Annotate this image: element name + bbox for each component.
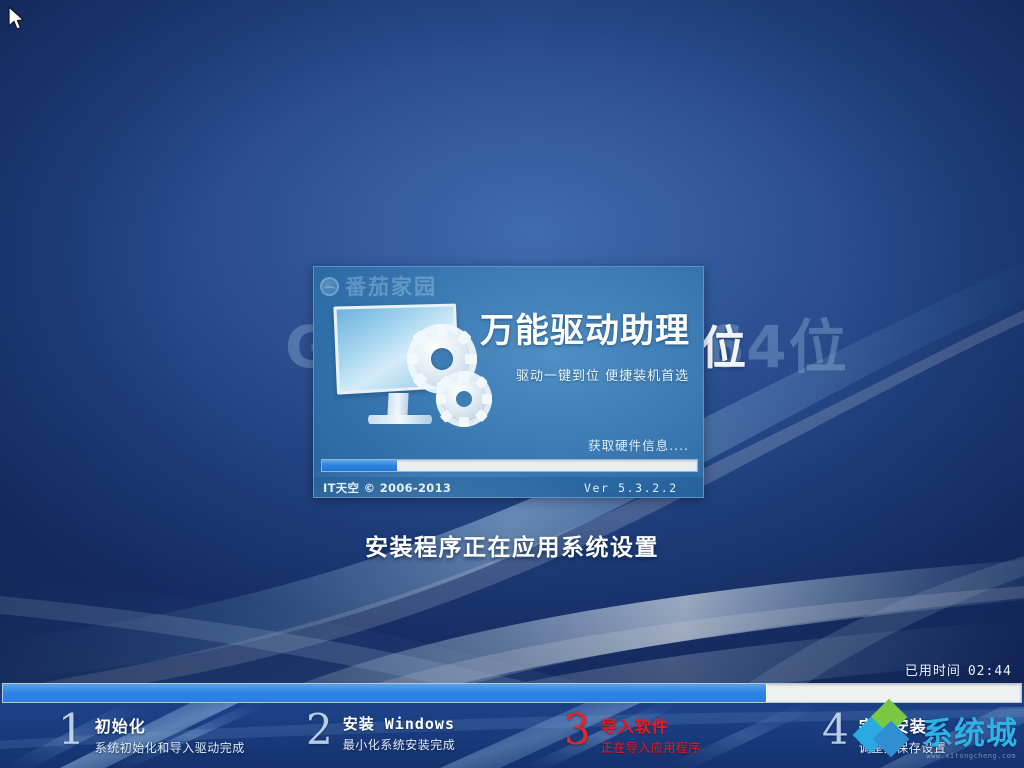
splash-progress-fill [322,460,397,471]
splash-version: Ver 5.3.2.2 [584,481,678,495]
installer-progress-fill [3,684,767,702]
gear-small-icon [442,377,486,421]
splash-product-title: 万能驱动助理 [480,303,690,352]
step-item-2: 2 安装 Windows 最小化系统安装完成 [256,703,512,768]
splash-watermark-text: 番茄家园 [345,271,437,301]
splash-progress-bar [321,459,698,472]
splash-tagline: 驱动一键到位 便捷装机首选 [516,365,689,384]
step-title: 安装 Windows [343,713,456,734]
installer-progress-bar [2,683,1022,703]
step-number: 4 [822,709,849,751]
elapsed-time-value: 02:44 [968,664,1012,679]
installer-status-message: 安装程序正在应用系统设置 [0,528,1024,562]
elapsed-time-label: 已用时间 [905,660,961,679]
step-title: 完成安装 [859,713,947,737]
installer-taskbar: 1 初始化 系统初始化和导入驱动完成 2 安装 Windows 最小化系统安装完… [0,683,1024,768]
splash-copyright: IT天空 © 2006-2013 [323,480,451,496]
driver-assistant-splash: 番茄家园 [313,266,704,498]
step-description: 最小化系统安装完成 [343,736,456,753]
elapsed-time: 已用时间 02:44 [905,660,1012,679]
globe-icon [320,277,339,296]
step-number: 3 [564,709,591,751]
step-description: 系统初始化和导入驱动完成 [95,739,245,756]
step-item-1: 1 初始化 系统初始化和导入驱动完成 [0,703,256,768]
step-number: 2 [306,709,333,751]
splash-status-text: 获取硬件信息.... [588,435,689,454]
splash-watermark: 番茄家园 [320,271,437,301]
splash-footer: IT天空 © 2006-2013 Ver 5.3.2.2 [314,477,703,498]
monitor-icon [332,303,472,438]
step-item-4: 4 完成安装 调整并保存设置 [768,703,1024,768]
step-item-3: 3 导入软件 正在导入应用程序 [512,703,768,768]
step-description: 调整并保存设置 [859,739,947,756]
step-number: 1 [58,709,85,751]
monitor-neck [387,393,408,417]
step-description: 正在导入应用程序 [601,739,701,756]
step-title: 导入软件 [601,713,701,737]
step-title: 初始化 [95,713,245,737]
arrow-cursor-icon [8,6,28,34]
monitor-base [368,415,432,424]
installer-steps: 1 初始化 系统初始化和导入驱动完成 2 安装 Windows 最小化系统安装完… [0,703,1024,768]
background-title-tail: 位 [700,312,746,378]
